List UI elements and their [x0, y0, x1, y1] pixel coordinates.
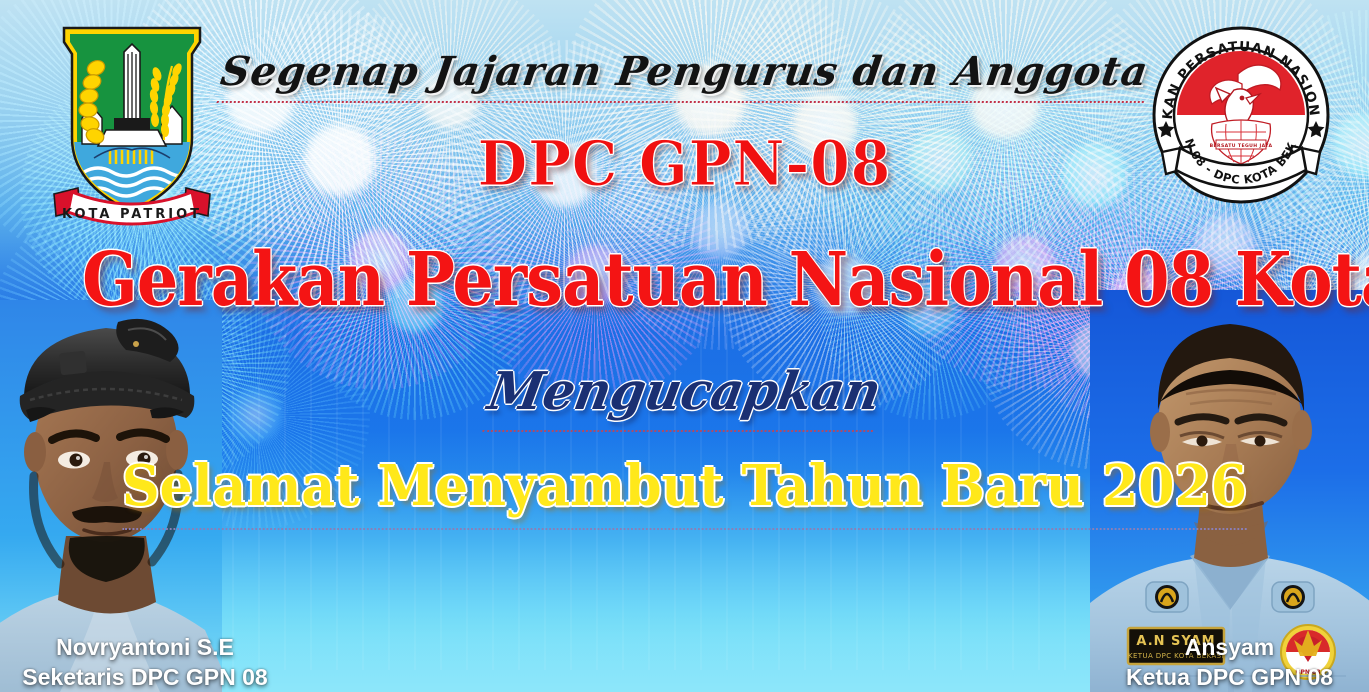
caption-ketua-name: Ansyam: [1090, 632, 1369, 662]
heading-mengucapkan: Mengucapkan: [30, 366, 1340, 418]
caption-seketaris: Novryantoni S.E Seketaris DPC GPN 08: [0, 632, 290, 692]
kota-patriot-ribbon-text: KOTA PATRIOT: [62, 207, 202, 222]
caption-seketaris-title: Seketaris DPC GPN 08: [0, 662, 290, 692]
caption-ketua: Ansyam Ketua DPC GPN 08: [1090, 632, 1369, 692]
heading-segenap-text: Segenap Jajaran Pengurus dan Anggota: [217, 48, 1152, 103]
heading-mengucapkan-text: Mengucapkan: [482, 361, 886, 432]
caption-ketua-title: Ketua DPC GPN 08: [1090, 662, 1369, 692]
new-year-greeting-banner: GPN 08 A.N SYAM KETUA DPC KOTA BEKASI: [0, 0, 1369, 692]
heading-new-year-greeting-text: Selamat Menyambut Tahun Baru 2026: [122, 453, 1247, 530]
firework-burst: [311, 0, 589, 239]
heading-dpc-gpn: DPC GPN-08: [55, 133, 1314, 195]
heading-organization-name: Gerakan Persatuan Nasional 08 Kota Bekas…: [82, 243, 1287, 317]
heading-new-year-greeting: Selamat Menyambut Tahun Baru 2026: [48, 458, 1321, 514]
heading-segenap: Segenap Jajaran Pengurus dan Anggota: [0, 52, 1369, 92]
caption-seketaris-name: Novryantoni S.E: [0, 632, 290, 662]
